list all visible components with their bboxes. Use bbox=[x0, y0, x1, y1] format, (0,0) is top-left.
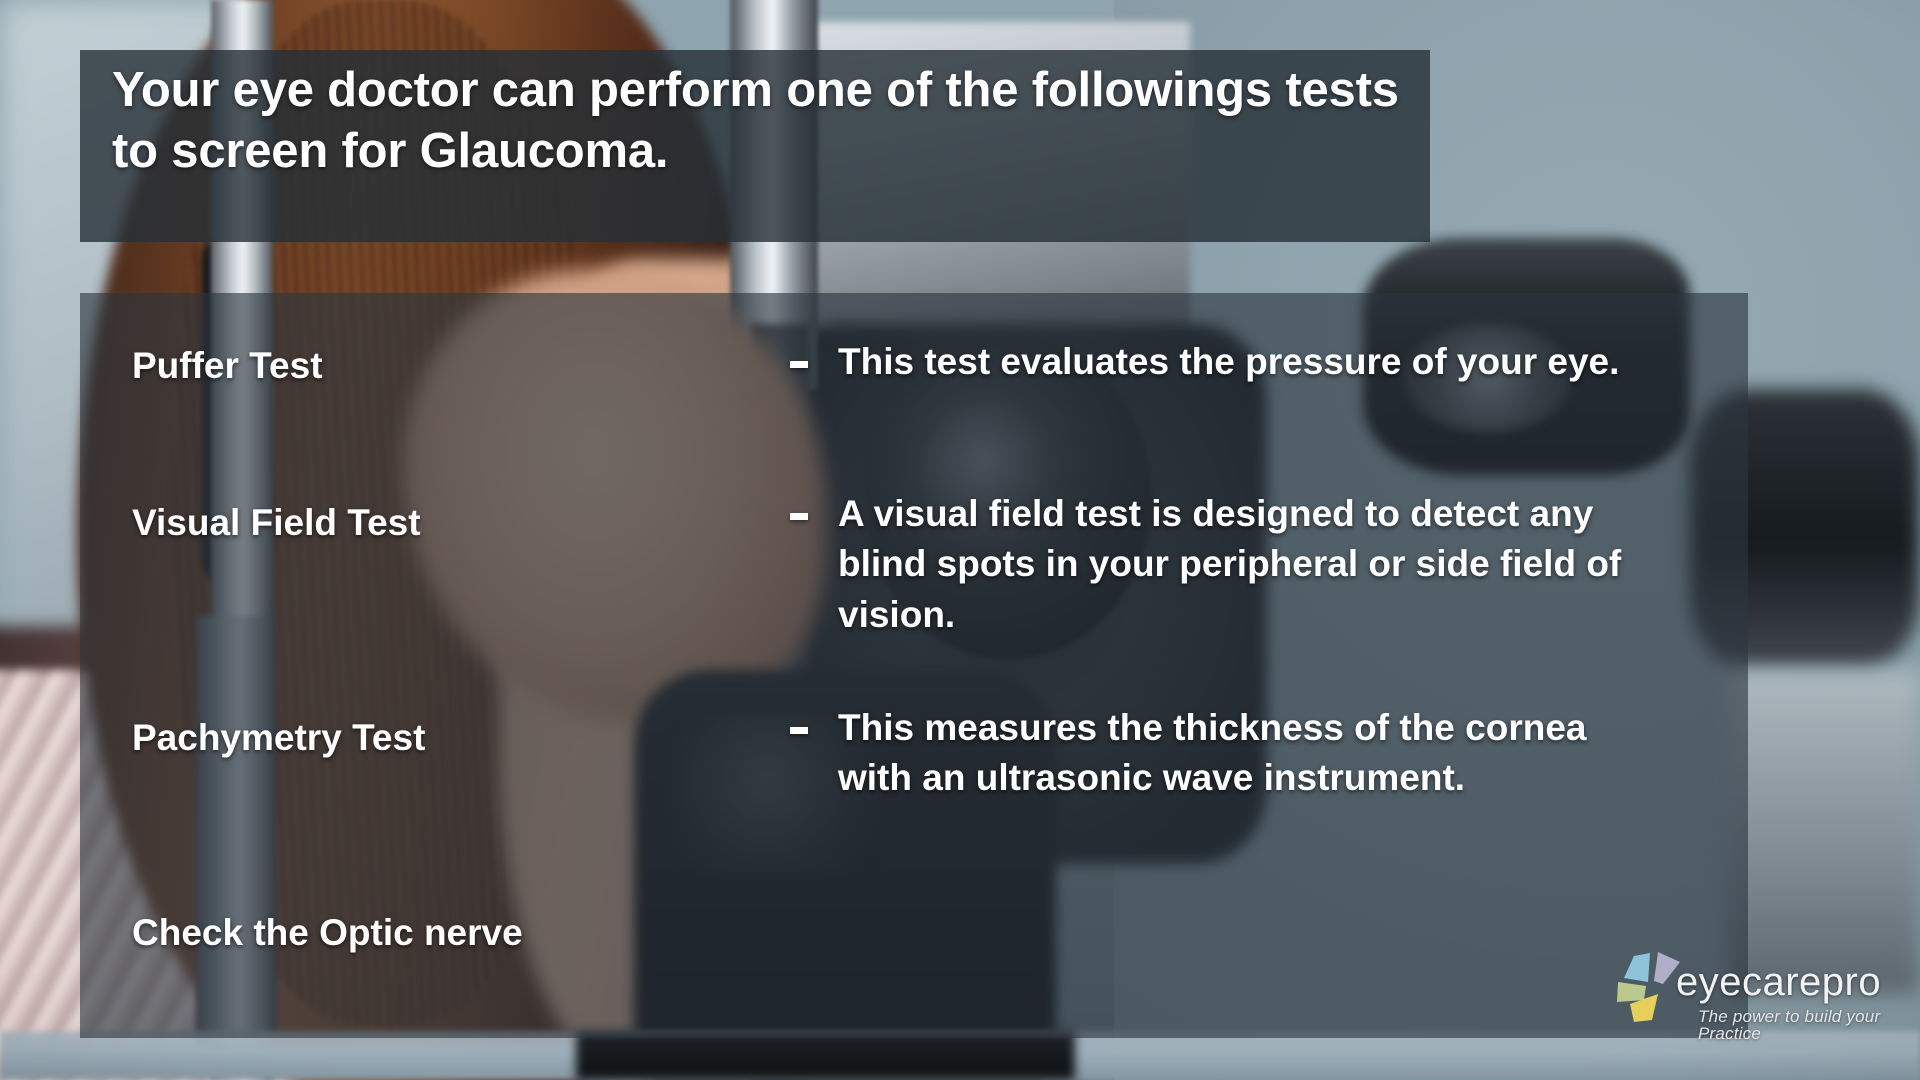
description-text-visual-field: A visual field test is designed to detec… bbox=[838, 489, 1668, 640]
description-item: This measures the thickness of the corne… bbox=[790, 703, 1668, 804]
description-item: This test evaluates the pressure of your… bbox=[790, 337, 1668, 387]
dash-bullet-icon bbox=[790, 361, 808, 368]
logo-wordmark: eyecarepro bbox=[1676, 962, 1881, 1002]
description-text-puffer: This test evaluates the pressure of your… bbox=[838, 337, 1668, 387]
test-name-optic-nerve: Check the Optic nerve bbox=[132, 910, 602, 955]
test-name-puffer: Puffer Test bbox=[132, 343, 323, 388]
slide-root: Your eye doctor can perform one of the f… bbox=[0, 0, 1920, 1080]
logo-tagline: The power to build your Practice bbox=[1698, 1008, 1904, 1042]
description-item: A visual field test is designed to detec… bbox=[790, 489, 1668, 640]
dash-bullet-icon bbox=[790, 727, 808, 734]
test-name-pachymetry: Pachymetry Test bbox=[132, 715, 425, 760]
test-name-visual-field: Visual Field Test bbox=[132, 500, 421, 545]
eyecarepro-logo: eyecarepro The power to build your Pract… bbox=[1614, 948, 1904, 1040]
page-title: Your eye doctor can perform one of the f… bbox=[112, 60, 1412, 182]
description-text-pachymetry: This measures the thickness of the corne… bbox=[838, 703, 1668, 804]
dash-bullet-icon bbox=[790, 513, 808, 520]
